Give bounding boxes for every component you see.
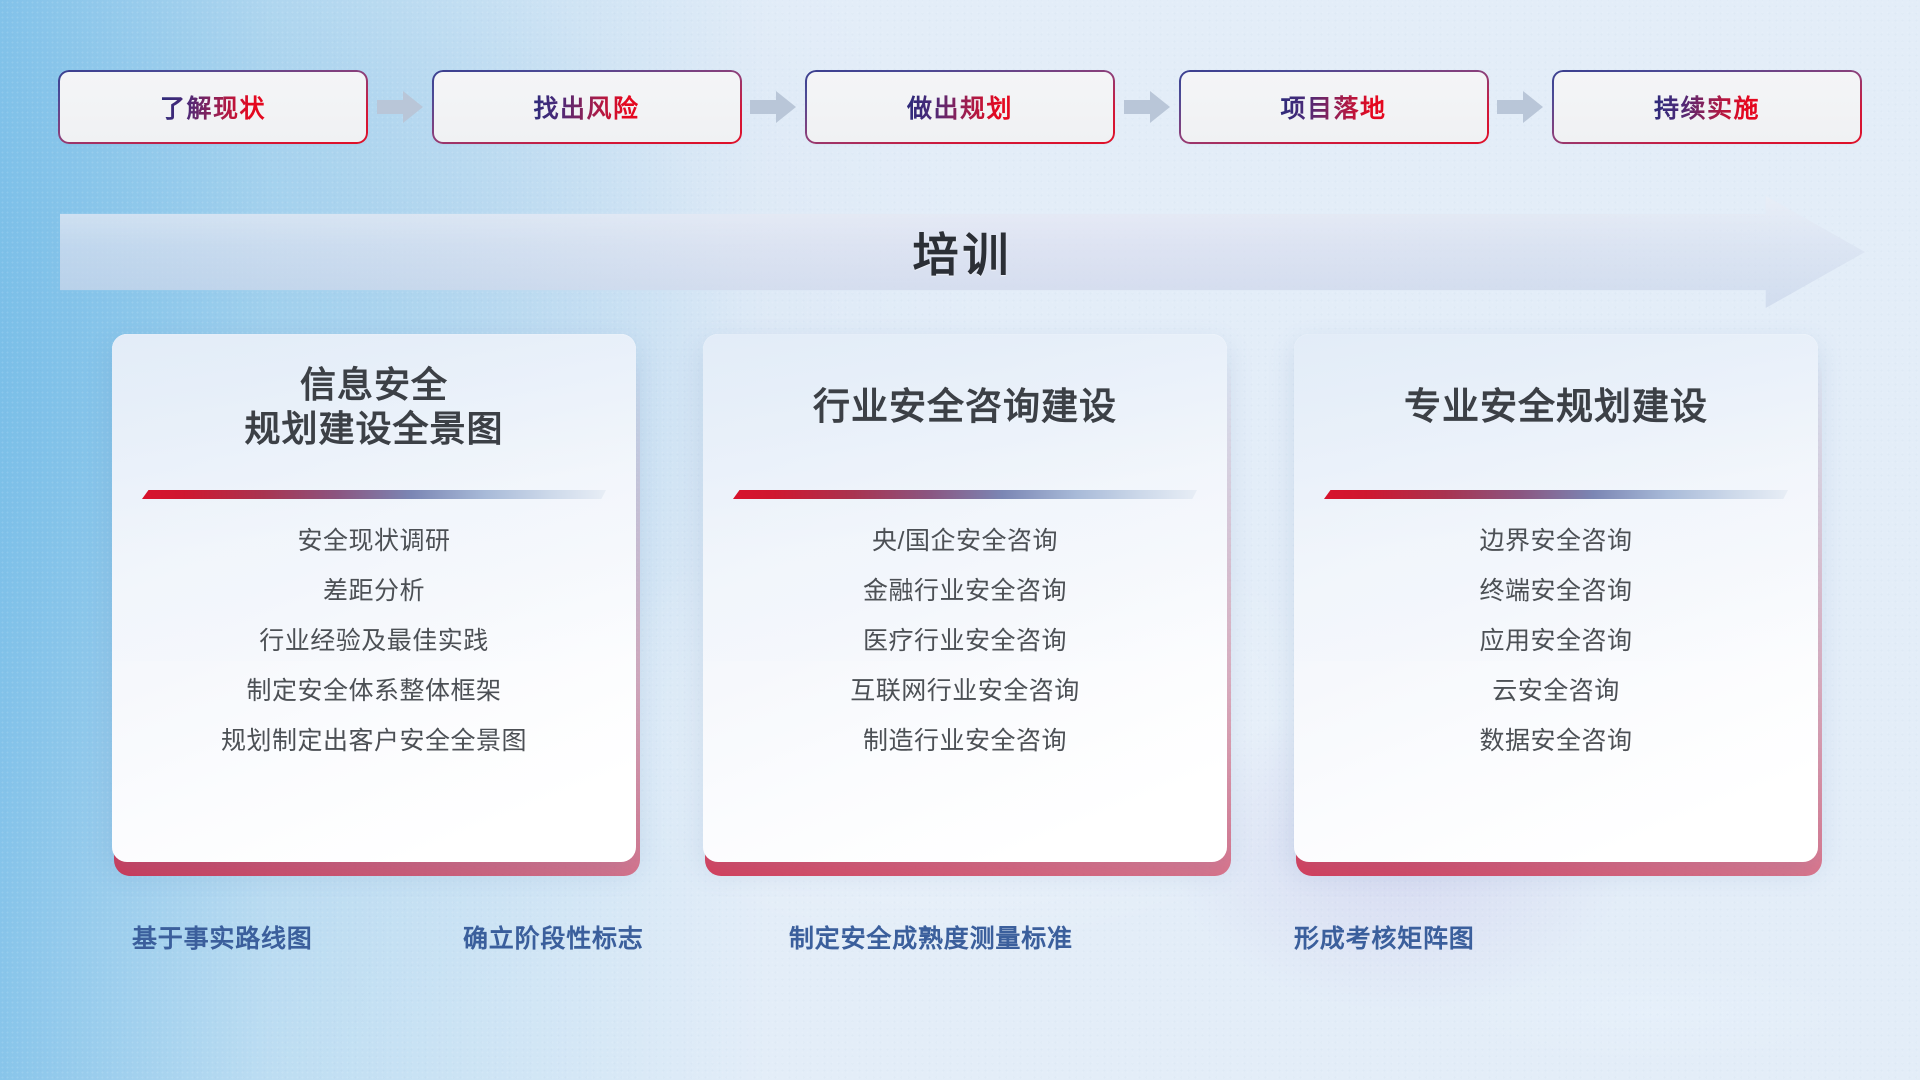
service-card-2[interactable]: 行业安全咨询建设 央/国企安全咨询 金融行业安全咨询 医疗行业安全咨询 互联网行…: [703, 334, 1233, 876]
service-card-row: 信息安全 规划建设全景图 安全现状调研 差距分析 行业经验及最佳实践 制定安全体…: [112, 334, 1824, 876]
card-body: 信息安全 规划建设全景图 安全现状调研 差距分析 行业经验及最佳实践 制定安全体…: [112, 334, 636, 862]
card-body: 行业安全咨询建设 央/国企安全咨询 金融行业安全咨询 医疗行业安全咨询 互联网行…: [703, 334, 1227, 862]
card-divider-bar: [733, 490, 1197, 499]
list-item: 制造行业安全咨询: [863, 716, 1067, 766]
list-item: 安全现状调研: [297, 516, 450, 566]
arrow-right-icon: [1124, 90, 1170, 124]
card-title-line: 信息安全: [300, 363, 448, 407]
process-step-1[interactable]: 了解现状: [60, 72, 366, 142]
card-item-list: 央/国企安全咨询 金融行业安全咨询 医疗行业安全咨询 互联网行业安全咨询 制造行…: [703, 516, 1227, 766]
service-card-3[interactable]: 专业安全规划建设 边界安全咨询 终端安全咨询 应用安全咨询 云安全咨询 数据安全…: [1294, 334, 1824, 876]
card-title-line: 行业安全咨询建设: [813, 384, 1117, 429]
list-item: 规划制定出客户安全全景图: [221, 716, 527, 766]
list-item: 数据安全咨询: [1479, 716, 1632, 766]
card-divider: [1324, 490, 1788, 499]
list-item: 终端安全咨询: [1479, 566, 1632, 616]
process-step-4[interactable]: 项目落地: [1181, 72, 1487, 142]
card-divider: [142, 490, 606, 499]
card-title: 专业安全规划建设: [1294, 334, 1818, 480]
caption-label: 形成考核矩阵图: [1294, 915, 1475, 959]
card-item-list: 边界安全咨询 终端安全咨询 应用安全咨询 云安全咨询 数据安全咨询: [1294, 516, 1818, 766]
process-step-2[interactable]: 找出风险: [434, 72, 740, 142]
card-divider-bar: [1324, 490, 1788, 499]
process-step-label: 持续实施: [1654, 89, 1760, 125]
process-step-5[interactable]: 持续实施: [1554, 72, 1860, 142]
list-item: 行业经验及最佳实践: [259, 616, 489, 666]
caption-row: 基于事实路线图 确立阶段性标志 制定安全成熟度测量标准 形成考核矩阵图: [0, 915, 1920, 959]
list-item: 差距分析: [323, 566, 425, 616]
card-title-line: 专业安全规划建设: [1404, 384, 1708, 429]
list-item: 金融行业安全咨询: [863, 566, 1067, 616]
card-divider: [733, 490, 1197, 499]
list-item: 制定安全体系整体框架: [246, 666, 501, 716]
process-step-label: 项目落地: [1280, 89, 1386, 125]
caption-label: 基于事实路线图: [132, 915, 313, 959]
list-item: 互联网行业安全咨询: [850, 666, 1080, 716]
list-item: 边界安全咨询: [1479, 516, 1632, 566]
process-step-label: 找出风险: [533, 89, 639, 125]
card-surface: 信息安全 规划建设全景图 安全现状调研 差距分析 行业经验及最佳实践 制定安全体…: [112, 334, 636, 862]
caption-label: 确立阶段性标志: [463, 915, 644, 959]
card-surface: 行业安全咨询建设 央/国企安全咨询 金融行业安全咨询 医疗行业安全咨询 互联网行…: [703, 334, 1227, 862]
list-item: 应用安全咨询: [1479, 616, 1632, 666]
process-step-label: 了解现状: [160, 89, 266, 125]
card-body: 专业安全规划建设 边界安全咨询 终端安全咨询 应用安全咨询 云安全咨询 数据安全…: [1294, 334, 1818, 862]
process-step-label: 做出规划: [907, 89, 1013, 125]
banner-title: 培训: [60, 196, 1865, 308]
card-title-line: 规划建设全景图: [244, 407, 503, 451]
card-item-list: 安全现状调研 差距分析 行业经验及最佳实践 制定安全体系整体框架 规划制定出客户…: [112, 516, 636, 766]
process-step-3[interactable]: 做出规划: [807, 72, 1113, 142]
arrow-right-icon: [750, 90, 796, 124]
list-item: 央/国企安全咨询: [872, 516, 1058, 566]
training-banner: 培训: [60, 196, 1865, 308]
card-surface: 专业安全规划建设 边界安全咨询 终端安全咨询 应用安全咨询 云安全咨询 数据安全…: [1294, 334, 1818, 862]
slide-canvas: 了解现状 找出风险 做出规划 项目落地: [0, 0, 1920, 1080]
service-card-1[interactable]: 信息安全 规划建设全景图 安全现状调研 差距分析 行业经验及最佳实践 制定安全体…: [112, 334, 642, 876]
caption-label: 制定安全成熟度测量标准: [789, 915, 1073, 959]
card-title: 行业安全咨询建设: [703, 334, 1227, 480]
arrow-right-icon: [377, 90, 423, 124]
arrow-right-icon: [1497, 90, 1543, 124]
card-title: 信息安全 规划建设全景图: [112, 334, 636, 480]
card-divider-bar: [142, 490, 606, 499]
process-step-row: 了解现状 找出风险 做出规划 项目落地: [60, 72, 1860, 142]
list-item: 云安全咨询: [1492, 666, 1620, 716]
list-item: 医疗行业安全咨询: [863, 616, 1067, 666]
